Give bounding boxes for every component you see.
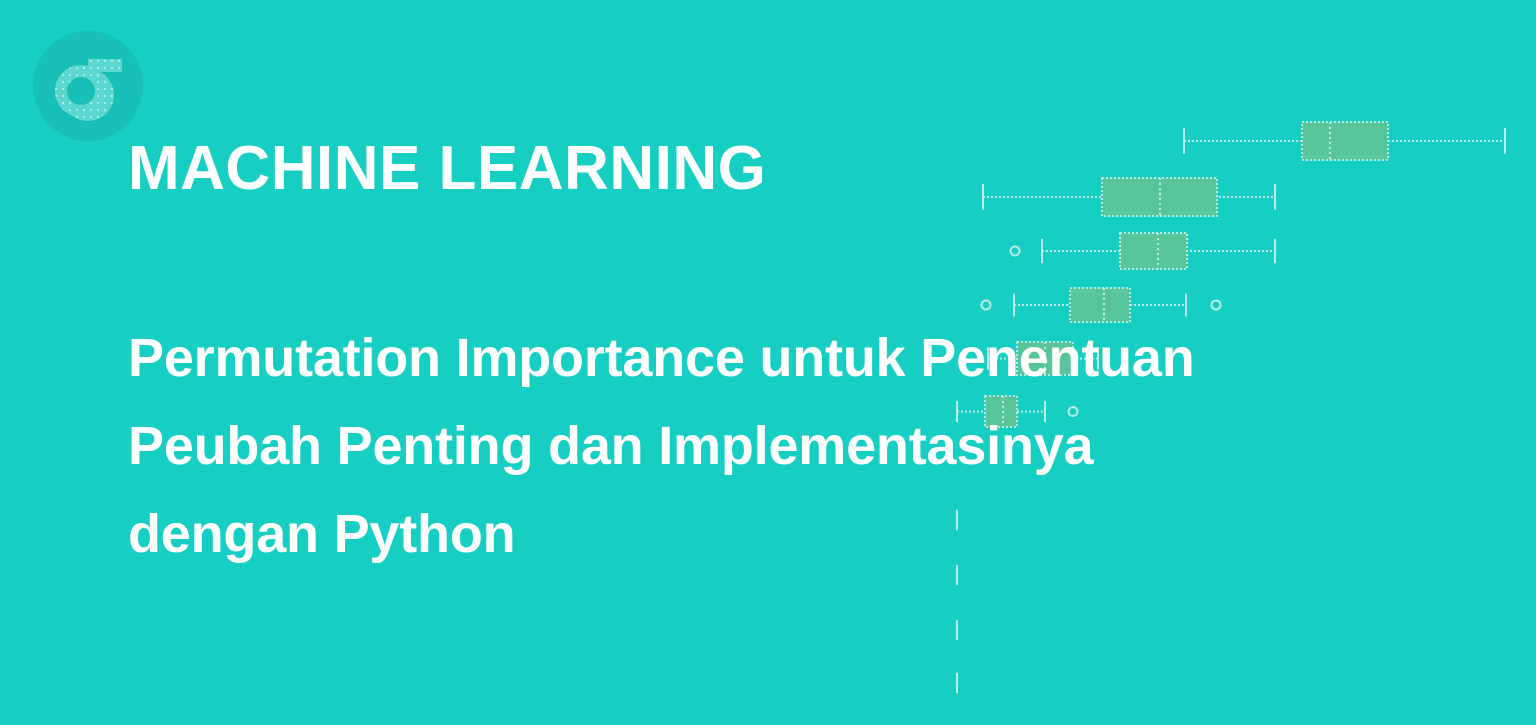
category-kicker: MACHINE LEARNING — [128, 131, 1458, 207]
text-block: MACHINE LEARNING Permutation Importance … — [128, 131, 1458, 578]
headline: Permutation Importance untuk Penentuan P… — [128, 207, 1458, 578]
logo-sigma-mark — [33, 31, 143, 141]
headline-line-2: Peubah Penting dan Implementasinya — [128, 402, 1458, 490]
headline-line-3: dengan Python — [128, 490, 1458, 578]
sigma-logo — [33, 31, 143, 141]
headline-line-1: Permutation Importance untuk Penentuan — [128, 314, 1458, 402]
banner: MACHINE LEARNING Permutation Importance … — [0, 0, 1536, 725]
